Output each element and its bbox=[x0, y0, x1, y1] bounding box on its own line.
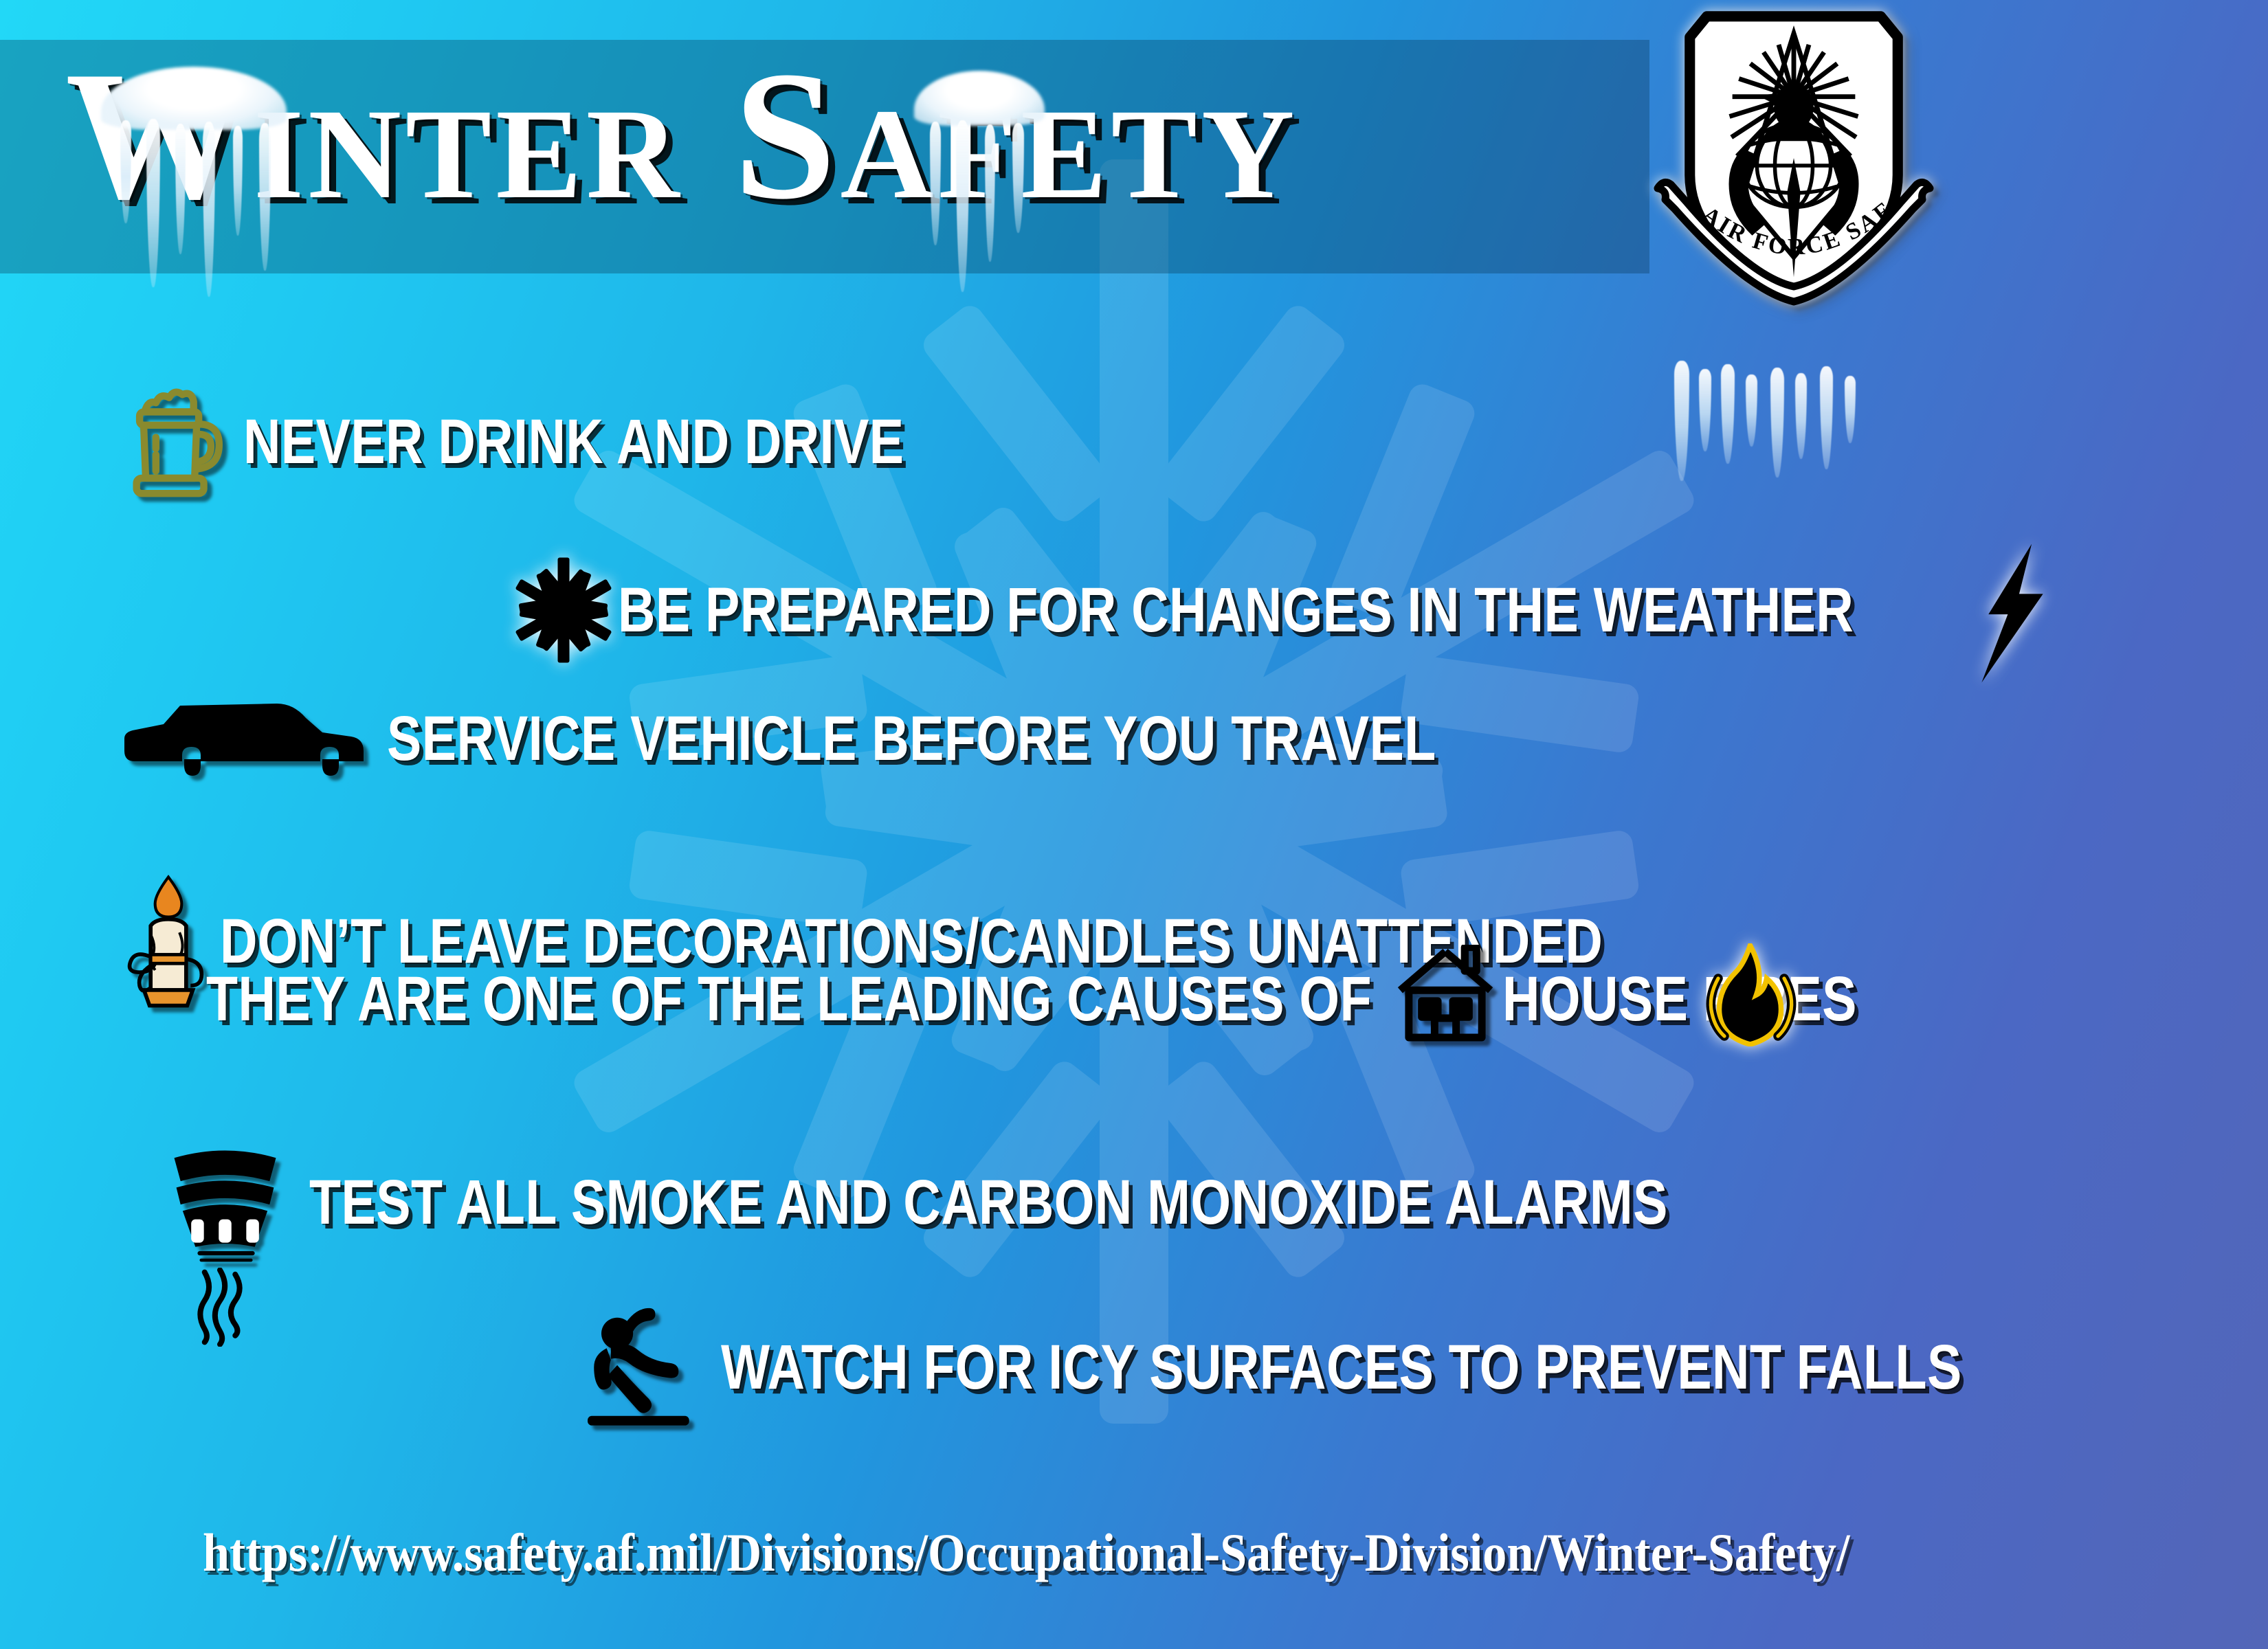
page-title-area: Winter Safety bbox=[65, 38, 1701, 278]
car-icon bbox=[120, 697, 368, 780]
winter-safety-poster: Winter Safety bbox=[0, 0, 2268, 1649]
house-icon bbox=[1394, 945, 1497, 1044]
tip-row-alarms: TEST ALL SMOKE AND CARBON MONOXIDE ALARM… bbox=[162, 1141, 1966, 1264]
icicle-icon bbox=[1746, 374, 1757, 447]
snowflake-icon bbox=[505, 555, 622, 665]
snowflake-watermark bbox=[447, 104, 1821, 1479]
icicle-icon bbox=[1721, 364, 1735, 464]
slip-fall-icon bbox=[588, 1305, 698, 1429]
tip-label-house-fires-part2: HOUSE FIRES bbox=[1502, 967, 1857, 1031]
tip-label-service-vehicle: SERVICE VEHICLE BEFORE YOU TRAVEL bbox=[387, 707, 1436, 770]
icicle-icon bbox=[146, 119, 160, 287]
smoke-wisps-icon bbox=[196, 1268, 244, 1347]
logo-icicles bbox=[1649, 258, 1924, 457]
icicle-icon bbox=[1820, 366, 1833, 469]
icicle-icon bbox=[1770, 368, 1784, 478]
smoke-alarm-icon bbox=[162, 1141, 289, 1264]
icicle-icon bbox=[1699, 369, 1711, 451]
candle-icon bbox=[124, 873, 213, 1010]
icicle-icon bbox=[203, 122, 215, 297]
tip-label-drink-drive: NEVER DRINK AND DRIVE bbox=[243, 410, 904, 473]
icicle-icon bbox=[985, 124, 995, 262]
tip-row-drink-drive: NEVER DRINK AND DRIVE bbox=[124, 381, 1049, 502]
source-url[interactable]: https://www.safety.af.mil/Divisions/Occu… bbox=[203, 1522, 1850, 1584]
tip-row-service-vehicle: SERVICE VEHICLE BEFORE YOU TRAVEL bbox=[120, 697, 1667, 780]
lightning-bolt-icon bbox=[1971, 539, 2054, 687]
icicle-icon bbox=[956, 120, 969, 292]
icicle-icon bbox=[1795, 373, 1807, 459]
icicle-icon bbox=[1674, 361, 1689, 481]
tip-label-weather: BE PREPARED FOR CHANGES IN THE WEATHER bbox=[618, 579, 1854, 642]
tip-row-house-fires: THEY ARE ONE OF THE LEADING CAUSES OF HO… bbox=[206, 952, 1797, 1046]
tip-label-house-fires-part1: THEY ARE ONE OF THE LEADING CAUSES OF bbox=[206, 967, 1372, 1031]
beer-mug-icon bbox=[124, 381, 227, 502]
tip-label-icy-surfaces: WATCH FOR ICY SURFACES TO PREVENT FALLS bbox=[721, 1336, 1962, 1399]
tip-row-icy-surfaces: WATCH FOR ICY SURFACES TO PREVENT FALLS bbox=[588, 1305, 2234, 1429]
icicle-icon bbox=[259, 123, 271, 271]
fire-icon bbox=[1704, 943, 1797, 1046]
tip-label-alarms: TEST ALL SMOKE AND CARBON MONOXIDE ALARM… bbox=[309, 1171, 1668, 1234]
tip-row-weather: BE PREPARED FOR CHANGES IN THE WEATHER bbox=[505, 532, 2054, 687]
icicle-icon bbox=[1845, 376, 1856, 443]
page-title: Winter Safety bbox=[65, 43, 1299, 227]
